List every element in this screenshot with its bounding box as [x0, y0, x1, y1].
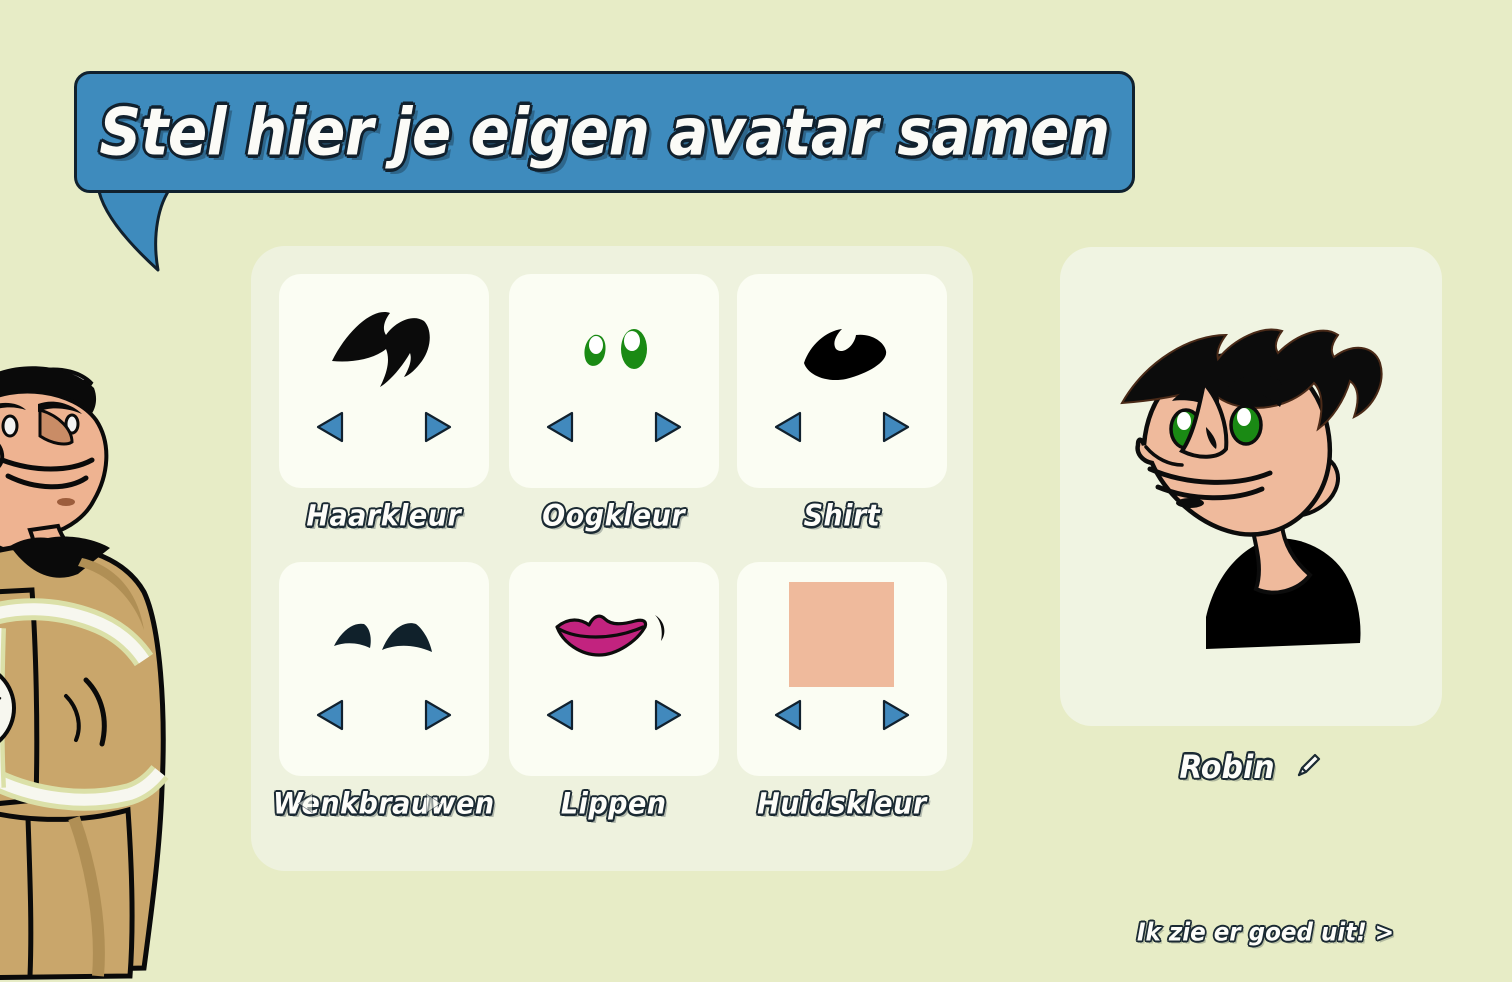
prev-button-wenkbrauwen[interactable] — [313, 698, 347, 732]
firefighter-mascot — [0, 348, 234, 982]
next-button-oogkleur[interactable] — [651, 410, 685, 444]
next-button-huidskleur[interactable] — [879, 698, 913, 732]
avatar-name-row[interactable]: Robin — [1060, 750, 1442, 785]
next-button-wenkbrauwen[interactable] — [421, 698, 455, 732]
arrow-row-huidskleur — [737, 698, 947, 732]
option-label-lippen: Lippen — [561, 787, 667, 820]
prev-button-huidskleur[interactable] — [771, 698, 805, 732]
arrow-row-lippen — [509, 698, 719, 732]
eyes-icon — [509, 274, 719, 414]
next-button-haarkleur[interactable] — [421, 410, 455, 444]
pencil-icon[interactable] — [1293, 751, 1323, 785]
lips-icon — [509, 562, 719, 702]
avatar-name: Robin — [1179, 749, 1274, 787]
skin-swatch-icon — [737, 562, 947, 702]
option-label-haarkleur: Haarkleur — [306, 500, 461, 533]
option-card-oogkleur[interactable] — [509, 274, 719, 488]
option-label-oogkleur: Oogkleur — [542, 500, 685, 533]
option-card-lippen[interactable] — [509, 562, 719, 776]
arrow-row-oogkleur — [509, 410, 719, 444]
prev-button-oogkleur[interactable] — [543, 410, 577, 444]
option-label-shirt: Shirt — [804, 500, 881, 533]
prev-button-shirt[interactable] — [771, 410, 805, 444]
arrow-row-wenkbrauwen — [279, 698, 489, 732]
prev-button-lippen[interactable] — [543, 698, 577, 732]
arrow-row-haarkleur — [279, 410, 489, 444]
option-cell-oogkleur: Oogkleur — [505, 274, 723, 556]
prev-button-haarkleur[interactable] — [313, 410, 347, 444]
option-card-wenkbrauwen[interactable] — [279, 562, 489, 776]
next-button-shirt[interactable] — [879, 410, 913, 444]
option-cell-wenkbrauwen: Wenkbrauwen — [273, 562, 495, 844]
option-card-haarkleur[interactable] — [279, 274, 489, 488]
skin-color-swatch — [789, 582, 894, 687]
option-card-huidskleur[interactable] — [737, 562, 947, 776]
speech-bubble-tail — [96, 186, 206, 272]
continue-cta-link[interactable]: Ik zie er goed uit! > — [1137, 919, 1394, 947]
option-card-shirt[interactable] — [737, 274, 947, 488]
avatar-portrait — [1086, 277, 1416, 697]
title-speech-bubble: Stel hier je eigen avatar samen — [74, 71, 1135, 193]
eyebrows-icon — [279, 562, 489, 702]
option-cell-huidskleur: Huidskleur — [733, 562, 951, 844]
next-button-lippen[interactable] — [651, 698, 685, 732]
option-label-huidskleur: Huidskleur — [757, 787, 927, 820]
option-cell-haarkleur: Haarkleur — [273, 274, 495, 556]
option-cell-lippen: Lippen — [505, 562, 723, 844]
option-cell-shirt: Shirt — [733, 274, 951, 556]
avatar-options-panel: Haarkleur Oogkleur — [251, 246, 973, 871]
page-title: Stel hier je eigen avatar samen — [99, 94, 1109, 170]
shirt-icon — [737, 274, 947, 414]
option-label-wenkbrauwen-text: Wenkbrauwen — [273, 787, 495, 820]
option-label-wenkbrauwen: Wenkbrauwen — [273, 787, 495, 820]
hair-swoosh-icon — [279, 274, 489, 414]
arrow-row-shirt — [737, 410, 947, 444]
avatar-preview-card — [1060, 247, 1442, 726]
